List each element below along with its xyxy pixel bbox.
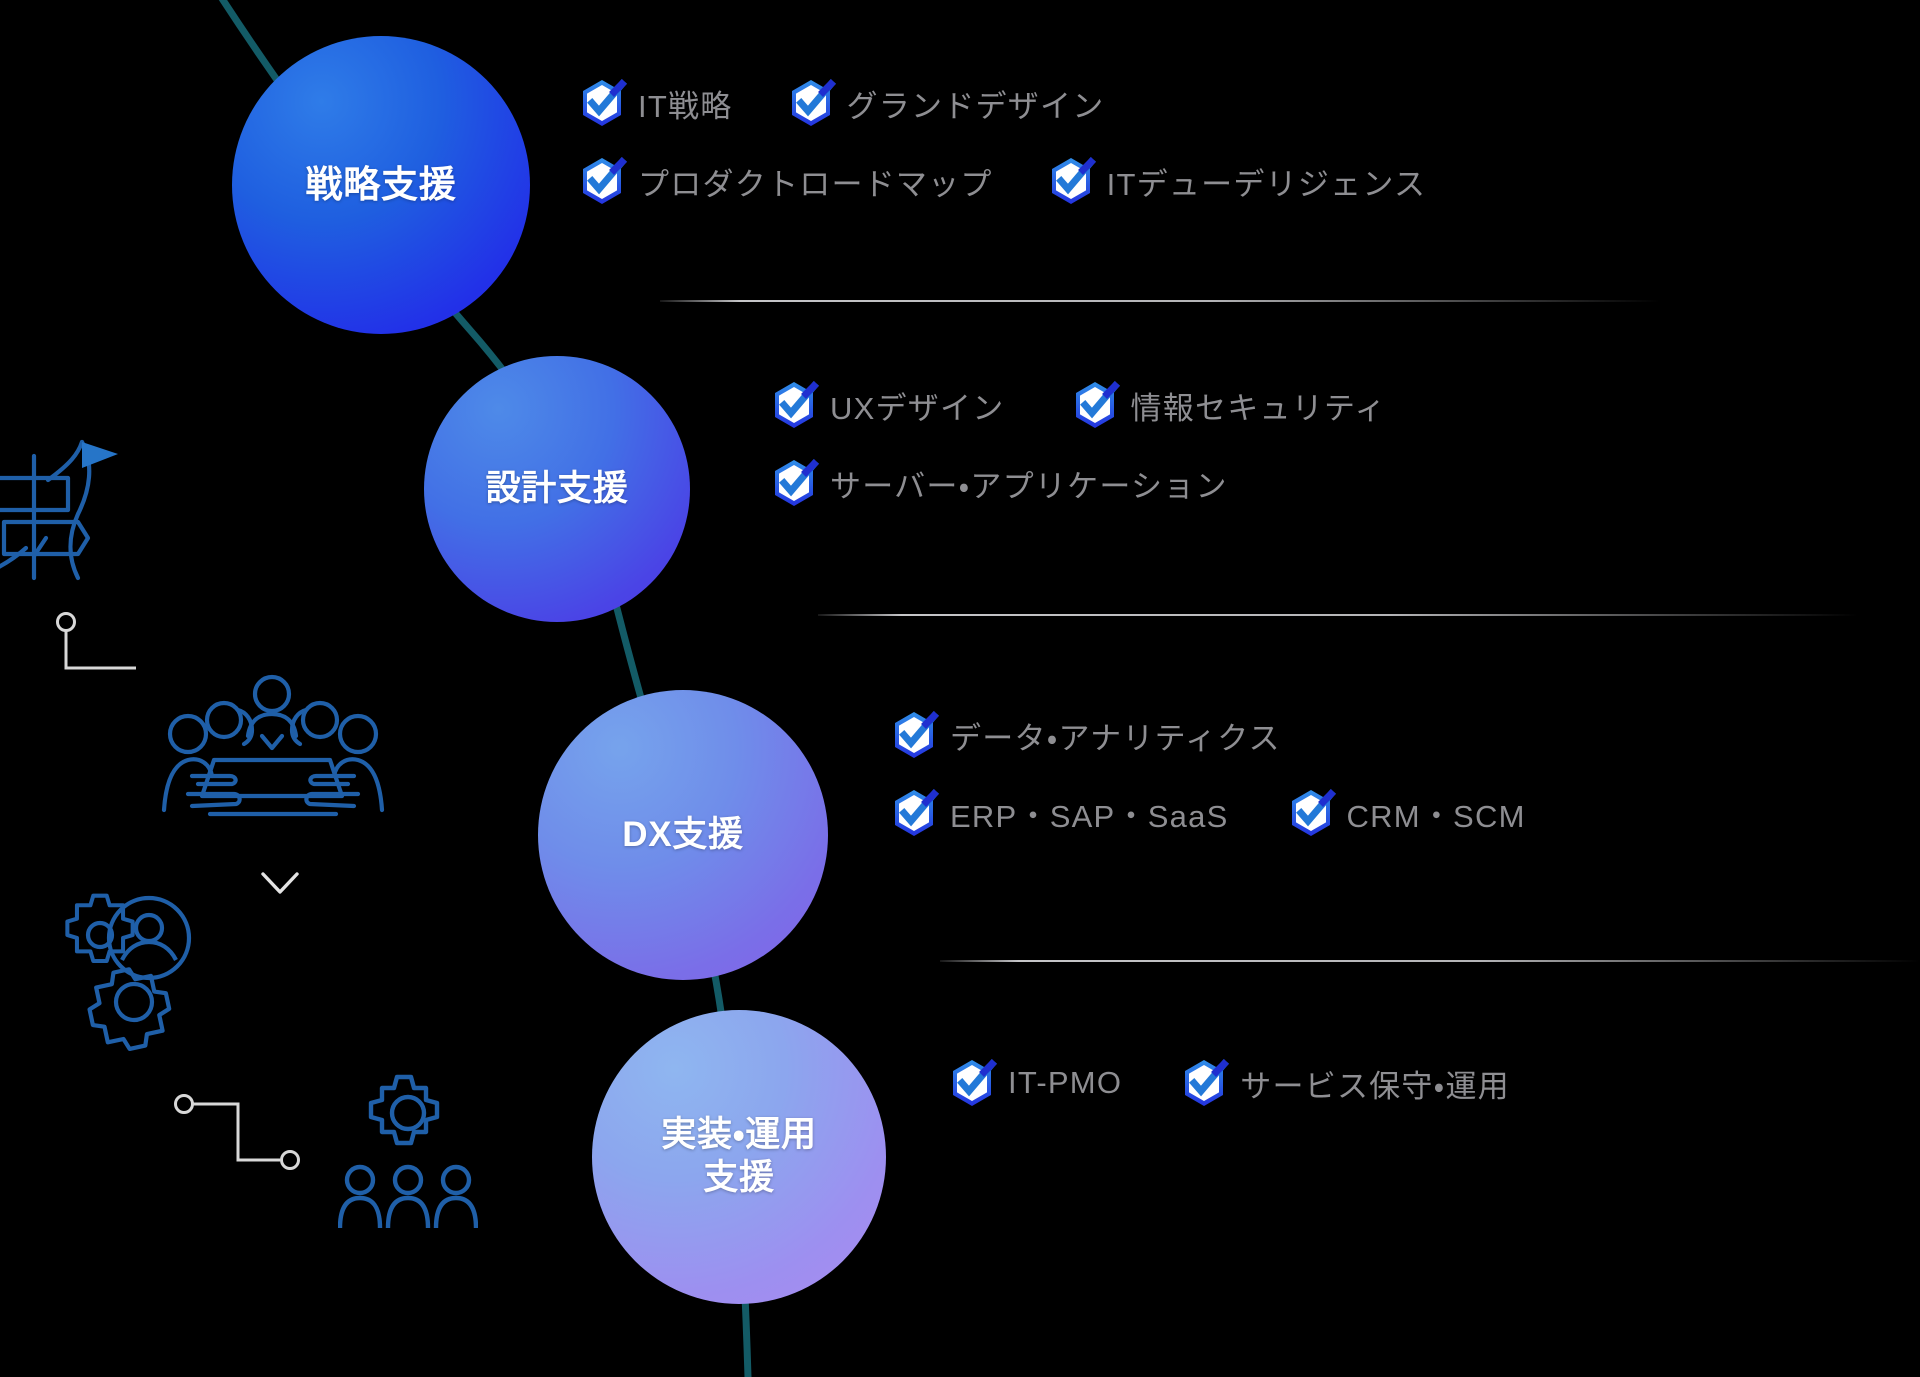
check-hexagon-icon [1287,788,1335,838]
list-item[interactable]: CRM・SCM [1287,788,1526,838]
gear-people-group-icon [338,1068,478,1238]
check-hexagon-icon [1071,380,1119,430]
item-row: IT-PMO サービス保守・運用 [948,1058,1510,1108]
item-label: UXデザイン [830,383,1005,428]
signpost-flag-icon [0,438,172,608]
list-item[interactable]: UXデザイン [770,380,1005,430]
check-hexagon-icon [890,710,938,760]
check-hexagon-icon [770,458,818,508]
node-label-line2: 支援 [703,1158,774,1197]
meeting-table-icon [152,672,392,822]
node-design[interactable]: 設計支援 [424,356,690,622]
check-hexagon-icon [578,78,626,128]
item-row: データ・アナリティクス [890,710,1526,760]
list-item[interactable]: ITデューデリジェンス [1047,156,1427,206]
item-row: IT戦略 グランドデザイン [578,78,1426,128]
item-label: グランドデザイン [847,81,1105,126]
item-label: プロダクトロードマップ [638,159,993,204]
item-label: ITデューデリジェンス [1107,159,1427,204]
group-dx: データ・アナリティクス ERP・SAP・SaaS [890,710,1526,838]
node-label: 実装・運用 支援 [661,1114,816,1199]
item-label: IT戦略 [638,81,733,126]
check-hexagon-icon [770,380,818,430]
connector-node-icon [172,1090,302,1180]
node-dx[interactable]: DX支援 [538,690,828,980]
group-design: UXデザイン 情報セキュリティ [770,380,1387,508]
divider-2 [818,614,1858,616]
list-item[interactable]: プロダクトロードマップ [578,156,993,206]
list-item[interactable]: データ・アナリティクス [890,710,1281,760]
group-implementation: IT-PMO サービス保守・運用 [948,1058,1510,1108]
item-label: サーバー・アプリケーション [830,461,1228,506]
item-row: UXデザイン 情報セキュリティ [770,380,1387,430]
connector-node-icon [52,608,142,680]
item-label: CRM・SCM [1347,791,1526,836]
item-label: 情報セキュリティ [1131,383,1387,428]
check-hexagon-icon [1047,156,1095,206]
item-label: サービス保守・運用 [1240,1061,1510,1106]
divider-3 [940,960,1920,962]
item-label: ERP・SAP・SaaS [950,791,1229,836]
list-item[interactable]: サーバー・アプリケーション [770,458,1228,508]
list-item[interactable]: IT戦略 [578,78,733,128]
list-item[interactable]: サービス保守・運用 [1180,1058,1510,1108]
chevron-down-icon [258,868,302,900]
list-item[interactable]: IT-PMO [948,1058,1122,1108]
node-label: 戦略支援 [306,162,457,207]
item-row: ERP・SAP・SaaS CRM・SCM [890,788,1526,838]
divider-1 [660,300,1660,302]
check-hexagon-icon [787,78,835,128]
node-label: 設計支援 [486,468,629,511]
node-label-line1: 実装・運用 [661,1115,816,1154]
gears-user-icon [56,890,236,1070]
check-hexagon-icon [948,1058,996,1108]
item-row: プロダクトロードマップ ITデューデリジェンス [578,156,1426,206]
node-implementation[interactable]: 実装・運用 支援 [592,1010,886,1304]
item-row: サーバー・アプリケーション [770,458,1387,508]
item-label: データ・アナリティクス [950,713,1281,758]
node-label: DX支援 [622,814,743,857]
list-item[interactable]: ERP・SAP・SaaS [890,788,1229,838]
node-strategy[interactable]: 戦略支援 [232,36,530,334]
item-label: IT-PMO [1008,1065,1122,1101]
list-item[interactable]: 情報セキュリティ [1071,380,1387,430]
check-hexagon-icon [578,156,626,206]
group-strategy: IT戦略 グランドデザイン [578,78,1426,206]
list-item[interactable]: グランドデザイン [787,78,1105,128]
check-hexagon-icon [890,788,938,838]
infographic-canvas: 戦略支援 設計支援 DX支援 実装・運用 支援 [0,0,1920,1377]
check-hexagon-icon [1180,1058,1228,1108]
